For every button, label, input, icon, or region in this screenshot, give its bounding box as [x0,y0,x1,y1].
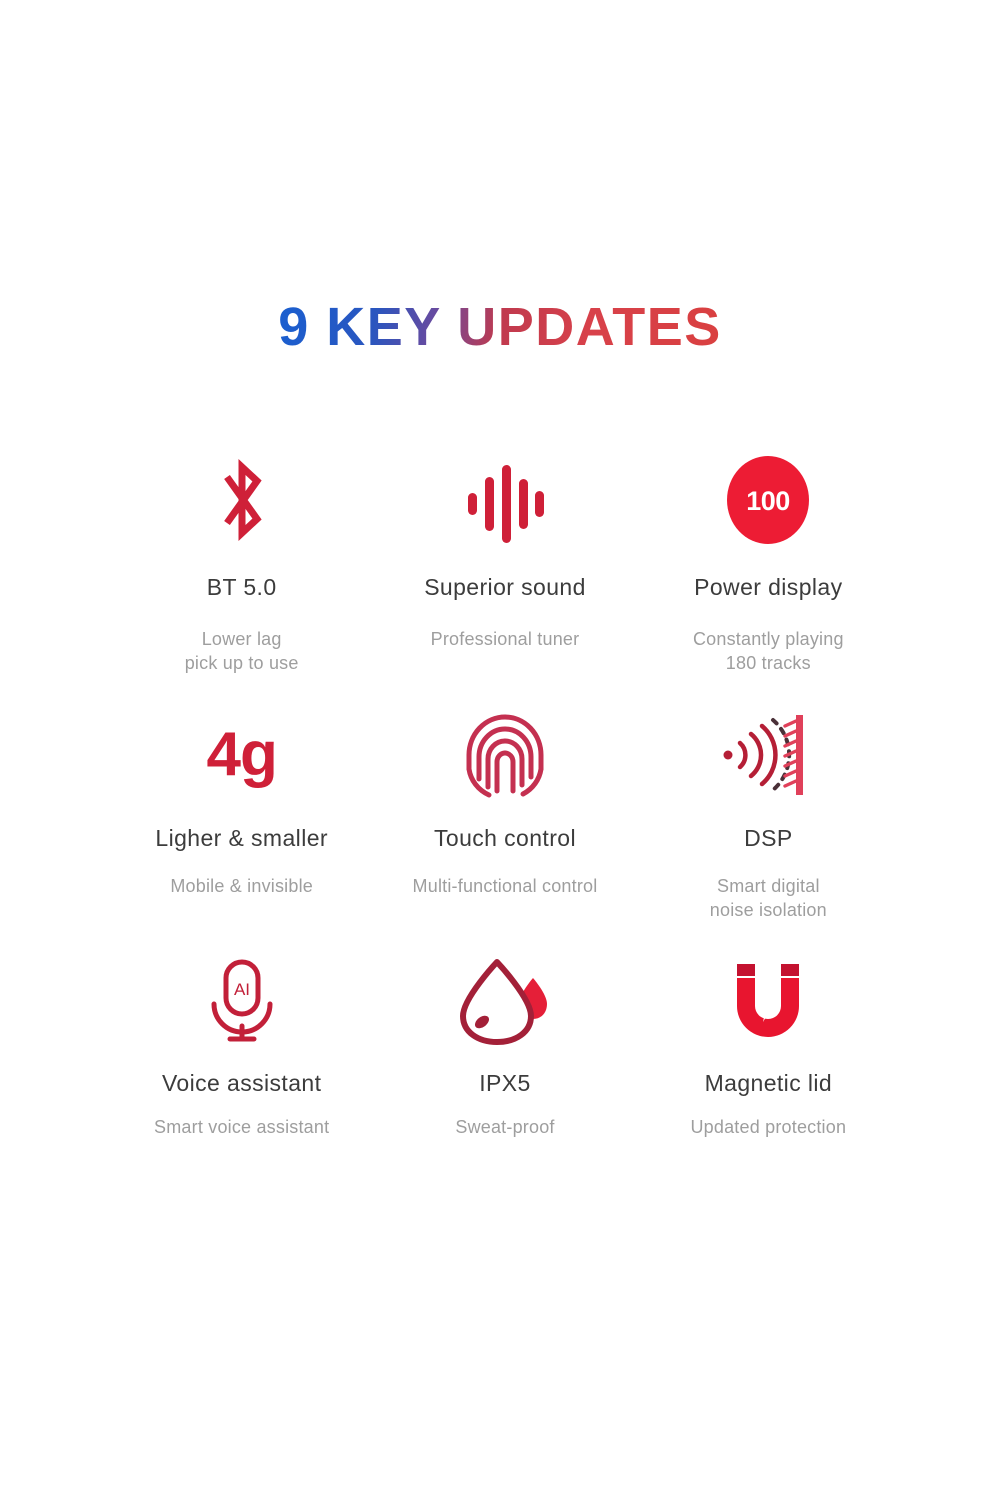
feature-title: DSP [744,825,793,852]
feature-item-power-display: 100 Power display Constantly playing 180… [637,452,900,707]
weight-4g-icon: 4g [206,707,276,803]
feature-subtitle: Professional tuner [431,627,580,651]
feature-subtitle-line-1: Mobile & invisible [170,874,313,898]
feature-subtitle: Mobile & invisible [170,874,313,898]
battery-level-label: 100 [747,486,791,516]
feature-subtitle-line-1: Updated protection [690,1115,846,1139]
page-title: 9 KEY UPDATES [278,300,722,354]
feature-title: Touch control [434,825,576,852]
water-drop-icon [457,952,553,1048]
microphone-ai-label: AI [234,980,250,999]
feature-item-dsp: DSP Smart digital noise isolation [637,707,900,952]
feature-title: Superior sound [424,574,586,601]
feature-grid: BT 5.0 Lower lag pick up to use [110,452,900,1139]
feature-subtitle: Constantly playing 180 tracks [693,627,844,676]
feature-title: Magnetic lid [705,1070,833,1097]
fingerprint-icon [459,707,551,803]
feature-subtitle-line-1: Lower lag [185,627,299,651]
feature-subtitle: Lower lag pick up to use [185,627,299,676]
feature-subtitle: Smart digital noise isolation [710,874,827,923]
feature-subtitle: Smart voice assistant [154,1115,329,1139]
infographic-page: 9 KEY UPDATES BT 5.0 Lower lag pick up t… [0,0,1000,1500]
feature-title: Voice assistant [162,1070,321,1097]
feature-item-touch-control: Touch control Multi-functional control [373,707,636,952]
feature-item-magnetic-lid: Magnetic lid Updated protection [637,952,900,1139]
feature-title: Ligher & smaller [155,825,328,852]
feature-item-bt-5-0: BT 5.0 Lower lag pick up to use [110,452,373,707]
feature-subtitle: Sweat-proof [455,1115,554,1139]
noise-isolation-icon [718,707,818,803]
feature-item-superior-sound: Superior sound Professional tuner [373,452,636,707]
sound-wave-icon [462,452,548,548]
feature-item-voice-assistant: AI Voice assistant Smart voice assistant [110,952,373,1139]
feature-subtitle: Updated protection [690,1115,846,1139]
feature-item-ipx5: IPX5 Sweat-proof [373,952,636,1139]
feature-subtitle-line-1: Multi-functional control [413,874,598,898]
feature-title: Power display [694,574,842,601]
magnet-icon [725,952,811,1048]
feature-subtitle-line-2: pick up to use [185,651,299,675]
feature-item-lighter-smaller: 4g Ligher & smaller Mobile & invisible [110,707,373,952]
feature-subtitle-line-2: 180 tracks [693,651,844,675]
feature-subtitle-line-1: Smart voice assistant [154,1115,329,1139]
feature-title: IPX5 [479,1070,530,1097]
feature-subtitle: Multi-functional control [413,874,598,898]
feature-subtitle-line-1: Smart digital [710,874,827,898]
feature-subtitle-line-1: Professional tuner [431,627,580,651]
feature-title: BT 5.0 [207,574,277,601]
microphone-ai-icon: AI [202,952,282,1048]
bluetooth-icon [205,452,279,548]
feature-subtitle-line-2: noise isolation [710,898,827,922]
page-title-container: 9 KEY UPDATES [0,300,1000,354]
feature-subtitle-line-1: Constantly playing [693,627,844,651]
feature-subtitle-line-1: Sweat-proof [455,1115,554,1139]
weight-4g-label: 4g [206,724,276,786]
battery-100-icon: 100 [721,452,815,548]
